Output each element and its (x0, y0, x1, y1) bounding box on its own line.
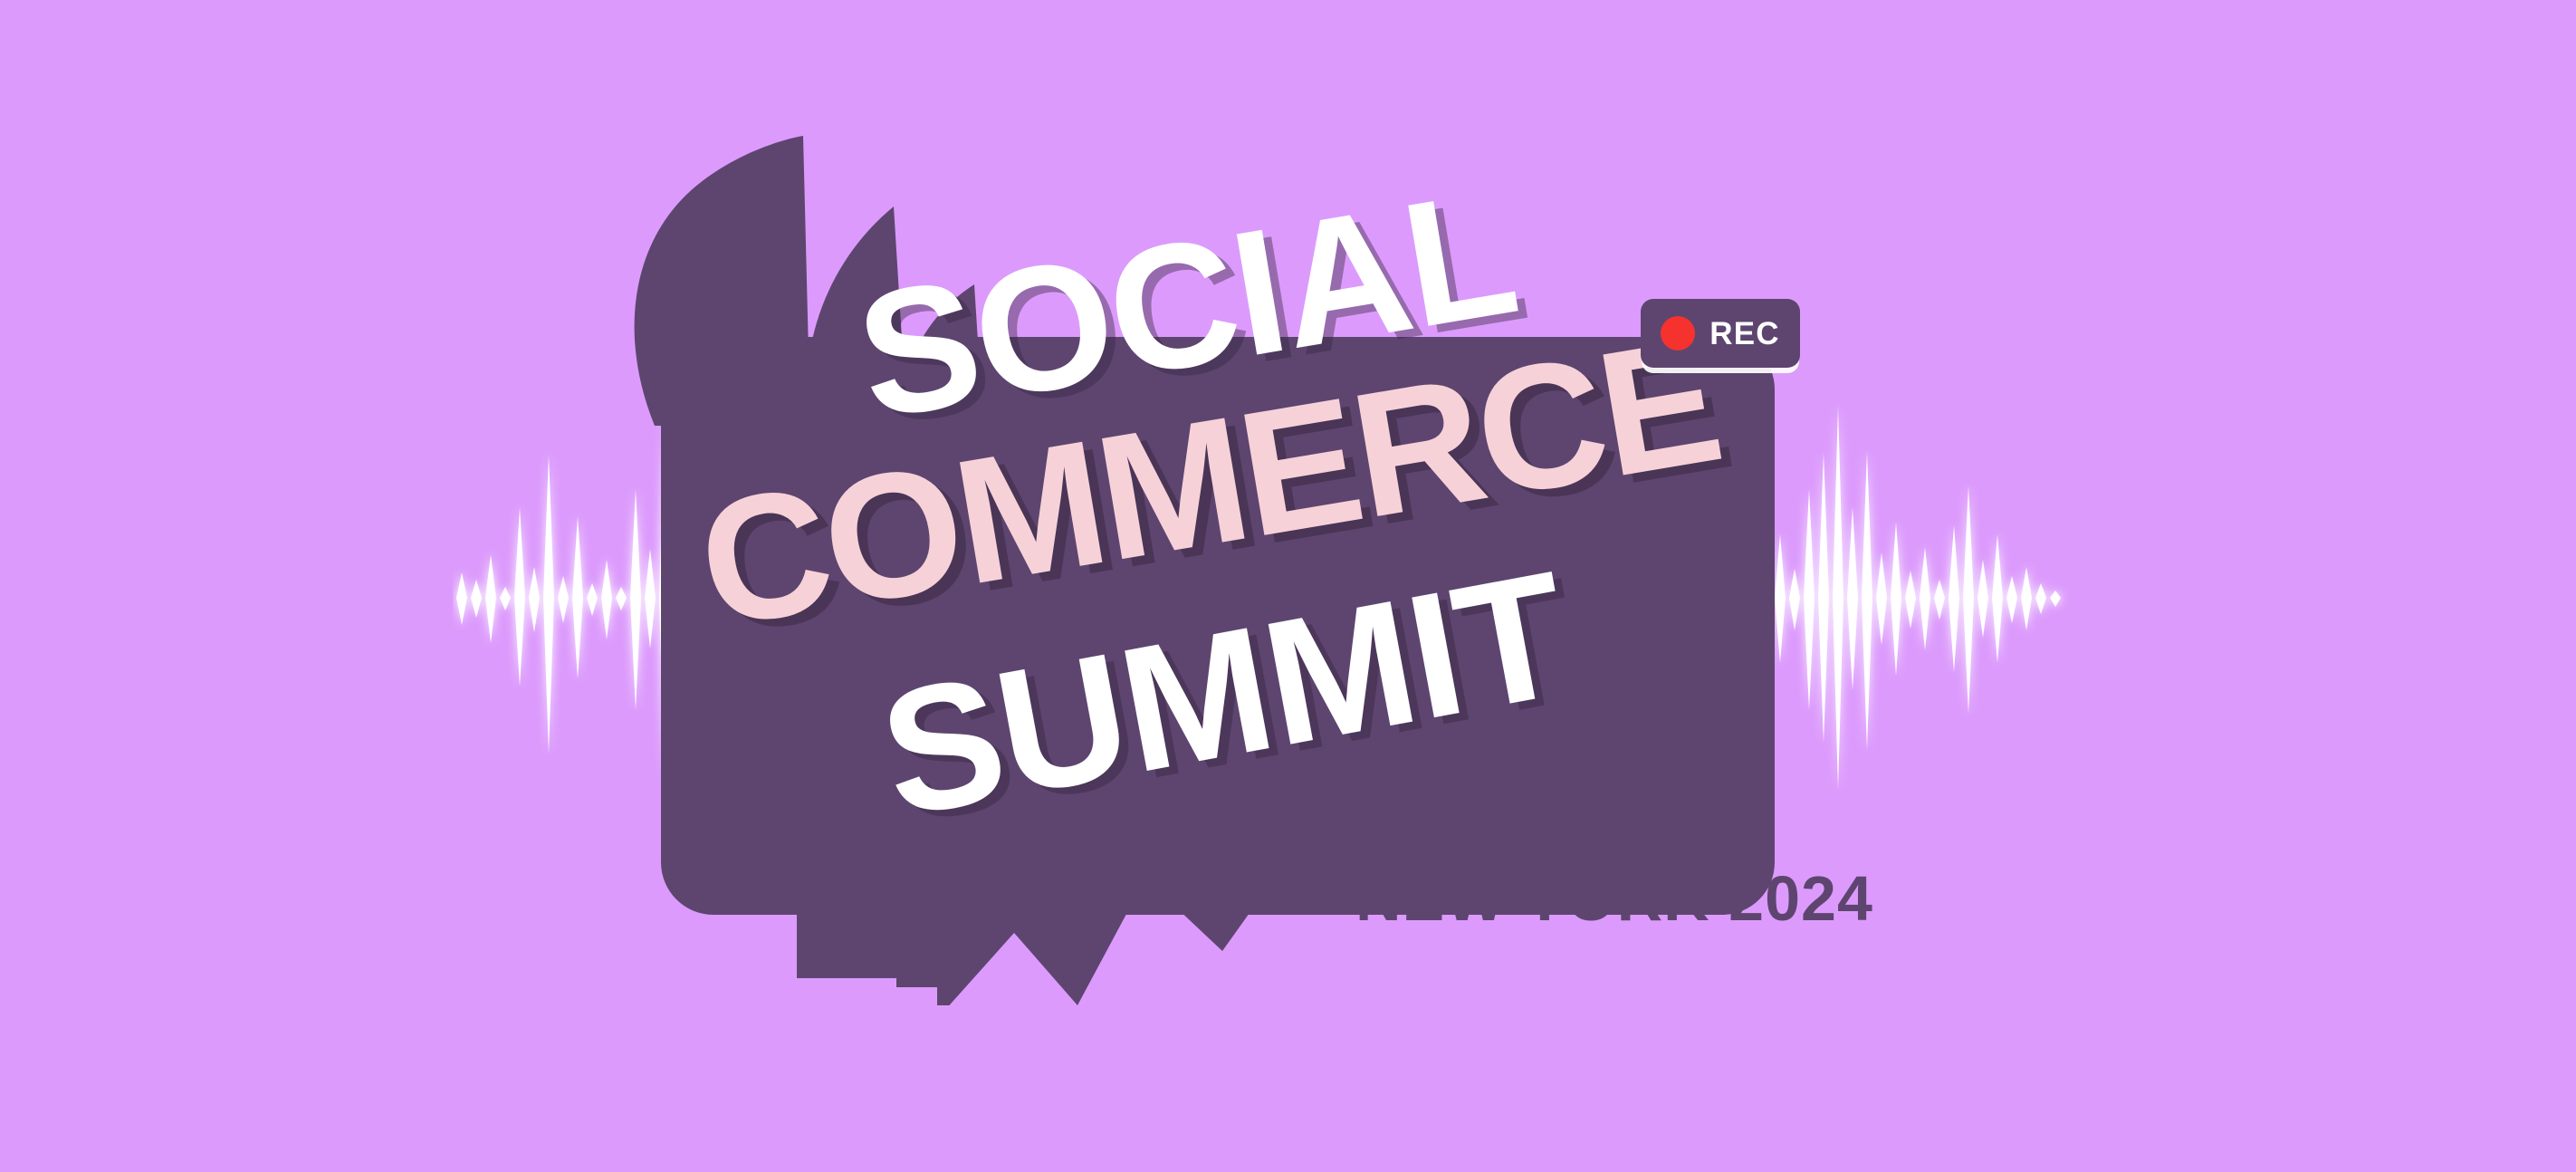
rec-badge[interactable]: REC (1641, 299, 1800, 368)
poster-canvas: REC SOCIAL COMMERCE SUMMIT NEW YORK 2024 (0, 0, 2576, 1172)
record-dot-icon (1661, 316, 1695, 351)
rec-label: REC (1709, 318, 1780, 350)
event-location-year: NEW YORK 2024 (1355, 862, 1873, 935)
